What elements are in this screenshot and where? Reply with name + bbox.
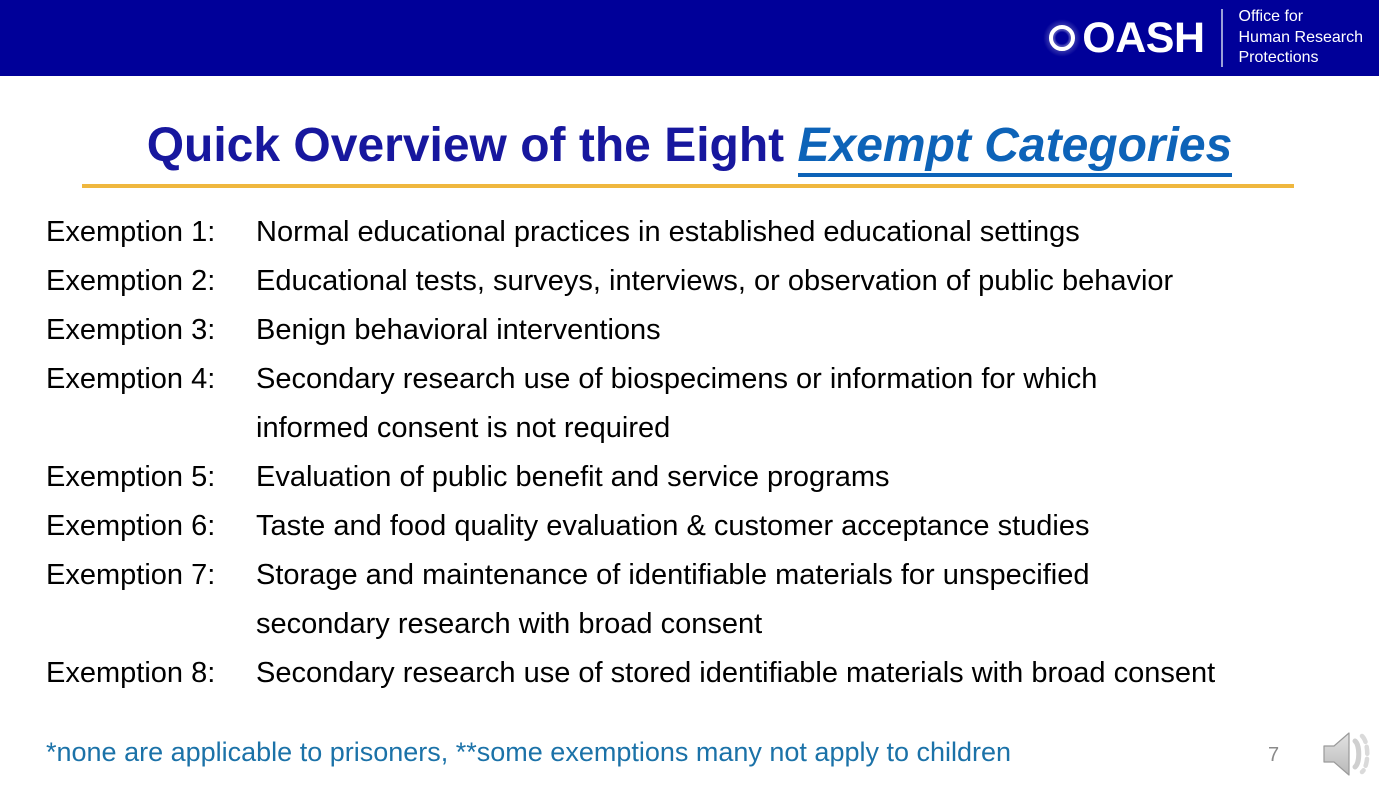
list-item: Exemption 5: Evaluation of public benefi… (46, 453, 1356, 502)
page-title-emphasis: Exempt Categories (798, 119, 1233, 177)
exemption-description: Storage and maintenance of identifiable … (256, 551, 1356, 600)
exemption-description: Secondary research use of stored identif… (256, 649, 1356, 698)
list-item: Exemption 8: Secondary research use of s… (46, 649, 1356, 698)
exemption-description: Secondary research use of biospecimens o… (256, 355, 1356, 404)
page-title-plain: Quick Overview of the Eight (147, 119, 798, 172)
logo-subtitle-line-1: Office for (1239, 7, 1364, 28)
exemption-label: Exemption 4: (46, 355, 256, 404)
page-title: Quick Overview of the Eight Exempt Categ… (0, 117, 1379, 175)
title-underline-rule (82, 184, 1294, 188)
exemption-label: Exemption 7: (46, 551, 256, 600)
oash-logo: OASH Office for Human Research Protectio… (1043, 0, 1379, 76)
exemption-description: Evaluation of public benefit and service… (256, 453, 1356, 502)
list-item: Exemption 4: Secondary research use of b… (46, 355, 1356, 404)
exemption-description-continued: informed consent is not required (46, 404, 1356, 453)
exemption-label: Exemption 6: (46, 502, 256, 551)
speaker-icon[interactable] (1318, 727, 1374, 781)
footnote-text: *none are applicable to prisoners, **som… (46, 733, 1011, 771)
list-item: Exemption 1: Normal educational practice… (46, 208, 1356, 257)
logo-subtitle-line-2: Human Research (1239, 28, 1364, 49)
exemption-description: Normal educational practices in establis… (256, 208, 1356, 257)
oash-ring-icon (1043, 19, 1081, 57)
list-item: Exemption 7: Storage and maintenance of … (46, 551, 1356, 600)
logo-subtitle-line-3: Protections (1239, 48, 1364, 69)
logo-divider (1221, 9, 1223, 67)
exemption-label: Exemption 3: (46, 306, 256, 355)
list-item: Exemption 6: Taste and food quality eval… (46, 502, 1356, 551)
exemption-label: Exemption 5: (46, 453, 256, 502)
header-bar: OASH Office for Human Research Protectio… (0, 0, 1379, 76)
oash-wordmark-text: OASH (1082, 17, 1204, 60)
logo-subtitle: Office for Human Research Protections (1239, 7, 1379, 69)
exemption-label: Exemption 8: (46, 649, 256, 698)
exemption-list: Exemption 1: Normal educational practice… (46, 208, 1356, 698)
exemption-label: Exemption 2: (46, 257, 256, 306)
list-item: Exemption 2: Educational tests, surveys,… (46, 257, 1356, 306)
exemption-description-continued: secondary research with broad consent (46, 600, 1356, 649)
exemption-description: Educational tests, surveys, interviews, … (256, 257, 1356, 306)
list-item: Exemption 3: Benign behavioral intervent… (46, 306, 1356, 355)
exemption-description: Benign behavioral interventions (256, 306, 1356, 355)
page-number: 7 (1268, 743, 1279, 767)
oash-wordmark: OASH (1043, 0, 1218, 76)
exemption-label: Exemption 1: (46, 208, 256, 257)
exemption-description: Taste and food quality evaluation & cust… (256, 502, 1356, 551)
